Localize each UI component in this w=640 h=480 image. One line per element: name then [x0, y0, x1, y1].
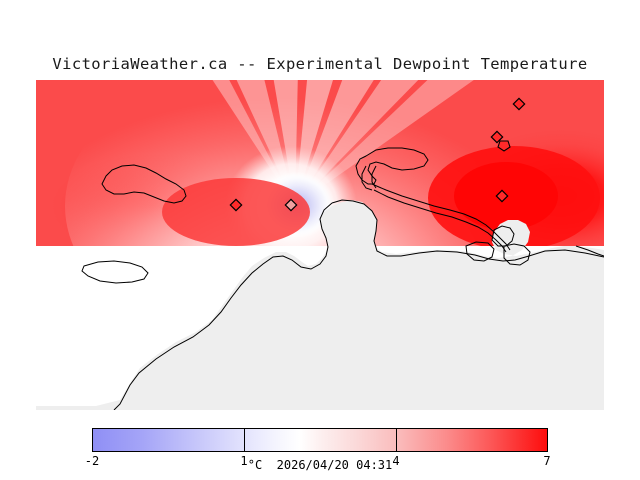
colorbar-tick-line	[396, 428, 397, 452]
colorbar-tick-line	[92, 428, 93, 452]
colorbar-gradient[interactable]	[92, 428, 548, 452]
colorbar-caption: °C 2026/04/20 04:31	[0, 458, 640, 472]
map-plot-area[interactable]	[36, 80, 604, 410]
weather-map-page: VictoriaWeather.ca -- Experimental Dewpo…	[0, 0, 640, 480]
field-warm-core-west	[162, 178, 310, 246]
colorbar-tick-line	[244, 428, 245, 452]
colorbar[interactable]: -2 1 4 7	[92, 428, 548, 452]
page-title: VictoriaWeather.ca -- Experimental Dewpo…	[0, 55, 640, 73]
colorbar-tick-line	[547, 428, 548, 452]
map-canvas[interactable]	[36, 80, 604, 410]
